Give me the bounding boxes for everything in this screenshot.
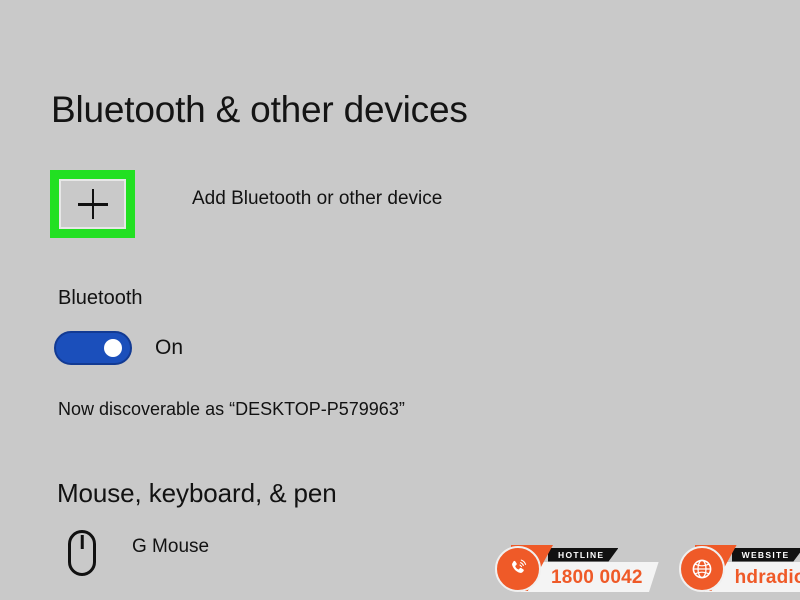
list-item[interactable]: G Mouse [68, 530, 209, 576]
bluetooth-toggle-state: On [155, 336, 183, 360]
bluetooth-toggle[interactable] [54, 331, 132, 365]
add-device-label: Add Bluetooth or other device [192, 188, 442, 210]
bluetooth-heading: Bluetooth [58, 287, 143, 310]
plus-icon [78, 189, 108, 219]
hotline-tag: HOTLINE [548, 548, 618, 562]
mouse-icon [68, 530, 96, 576]
hotline-number: 1800 0042 [551, 568, 643, 587]
toggle-knob [104, 339, 122, 357]
discoverable-status: Now discoverable as “DESKTOP-P579963” [58, 399, 405, 420]
add-device-button[interactable] [50, 170, 135, 238]
website-url: hdradio.vn [735, 568, 800, 587]
device-name: G Mouse [132, 536, 209, 558]
page-title: Bluetooth & other devices [51, 88, 468, 132]
bluetooth-toggle-row[interactable]: On [54, 331, 183, 365]
hotline-plate: 1800 0042 [521, 562, 659, 592]
devices-section-heading: Mouse, keyboard, & pen [57, 478, 337, 509]
globe-icon [679, 546, 725, 592]
watermark: HOTLINE 1800 0042 WEBSITE [495, 545, 800, 593]
add-device-row[interactable]: Add Bluetooth or other device [50, 170, 442, 238]
settings-page: Bluetooth & other devices Add Bluetooth … [0, 0, 800, 600]
website-tag: WEBSITE [732, 548, 800, 562]
phone-icon [495, 546, 541, 592]
website-badge: WEBSITE hdradio.vn [679, 545, 800, 593]
hotline-badge: HOTLINE 1800 0042 [495, 545, 659, 593]
